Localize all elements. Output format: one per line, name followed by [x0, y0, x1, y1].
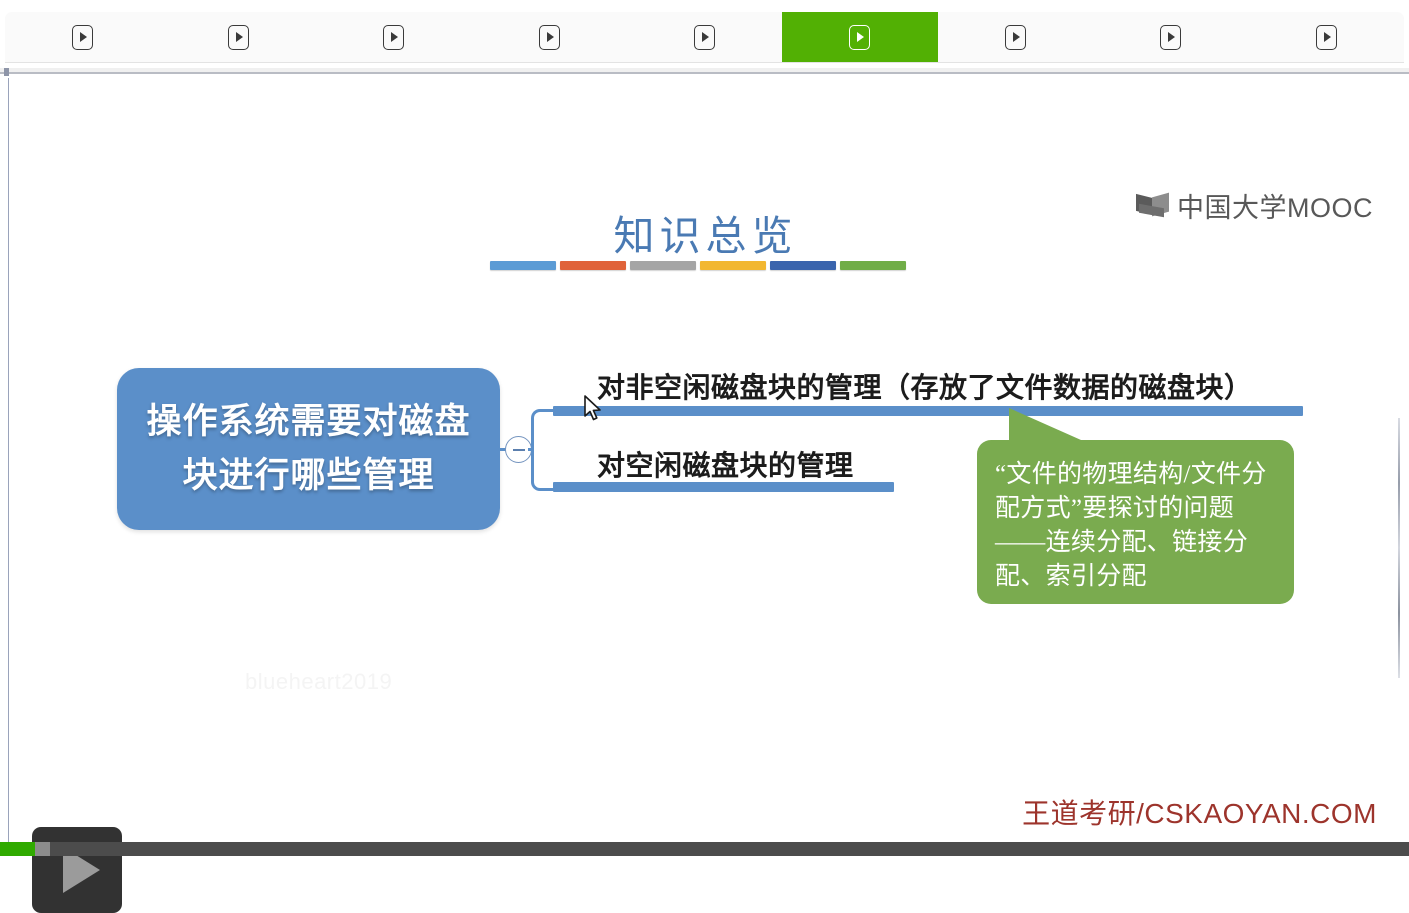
slide-right-edge: [1398, 418, 1400, 678]
play-icon: [539, 25, 560, 50]
slide-watermark: blueheart2019: [245, 669, 392, 695]
browser-tab-1[interactable]: [5, 12, 160, 62]
heading-bar-4: [700, 261, 766, 270]
video-viewport[interactable]: 中国大学MOOC 知识总览 操作系统需要对磁盘块进行哪些管理 对非空闲磁盘块的管…: [0, 76, 1409, 856]
heading-bar-5: [770, 261, 836, 270]
tab-list: [5, 12, 1404, 62]
mindmap-root-label: 操作系统需要对磁盘块进行哪些管理: [144, 395, 474, 504]
browser-tab-5[interactable]: [627, 12, 782, 62]
mindmap-branch-connector: [531, 409, 557, 491]
mindmap-root-node[interactable]: 操作系统需要对磁盘块进行哪些管理: [117, 368, 500, 530]
play-icon: [1160, 25, 1181, 50]
heading-bar-1: [490, 261, 556, 270]
browser-tab-6-active[interactable]: [782, 12, 937, 62]
browser-tab-8[interactable]: [1093, 12, 1248, 62]
browser-tab-4[interactable]: [471, 12, 626, 62]
play-icon: [1005, 25, 1026, 50]
mindmap-branch-label-2: 对空闲磁盘块的管理: [597, 444, 854, 484]
callout-text: “文件的物理结构/文件分配方式”要探讨的问题——连续分配、链接分配、索引分配: [995, 458, 1283, 594]
play-icon: [72, 25, 93, 50]
play-icon: [1316, 25, 1337, 50]
browser-tab-9[interactable]: [1249, 12, 1404, 62]
tab-strip-divider: [0, 68, 1409, 74]
browser-tab-3[interactable]: [316, 12, 471, 62]
slide-heading-wrap: 知识总览: [9, 202, 1401, 262]
heading-bar-2: [560, 261, 626, 270]
heading-bar-3: [630, 261, 696, 270]
mindmap-branch-underline-1: [553, 406, 1303, 416]
video-progress-played: [0, 842, 35, 856]
browser-tab-2[interactable]: [160, 12, 315, 62]
play-icon: [694, 25, 715, 50]
brand-watermark: 王道考研/CSKAOYAN.COM: [1022, 792, 1377, 832]
browser-tab-strip: [0, 0, 1409, 70]
mindmap-branch-label-1: 对非空闲磁盘块的管理（存放了文件数据的磁盘块）: [597, 366, 1253, 406]
heading-bar-6: [840, 261, 906, 270]
callout-bubble: “文件的物理结构/文件分配方式”要探讨的问题——连续分配、链接分配、索引分配: [977, 440, 1294, 604]
play-button-overlay[interactable]: [32, 827, 122, 913]
slide-canvas: 中国大学MOOC 知识总览 操作系统需要对磁盘块进行哪些管理 对非空闲磁盘块的管…: [8, 78, 1401, 850]
play-icon: [849, 25, 870, 50]
video-progress-bar[interactable]: [0, 842, 1409, 856]
mouse-cursor: [583, 394, 605, 424]
play-icon: [228, 25, 249, 50]
page-title: 知识总览: [614, 213, 798, 259]
play-icon: [383, 25, 404, 50]
tab-strip-divider-cap: [4, 68, 9, 76]
browser-tab-7[interactable]: [938, 12, 1093, 62]
heading-decor-bars: [490, 261, 906, 270]
